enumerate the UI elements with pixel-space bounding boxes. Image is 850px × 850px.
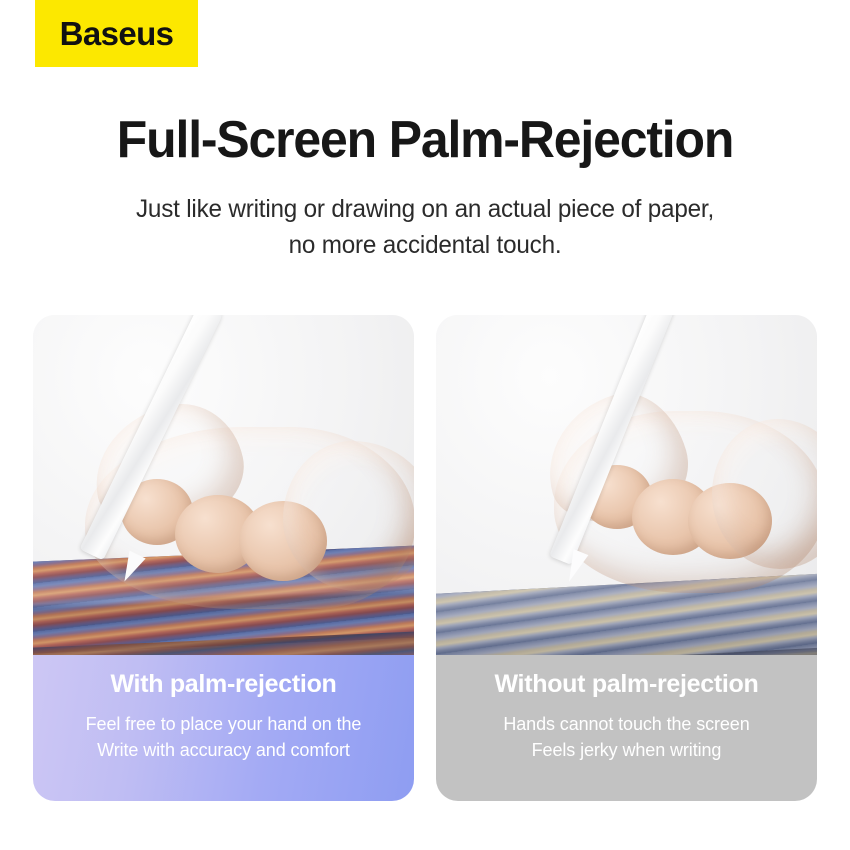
caption-sub-with: Feel free to place your hand on the Writ… [86, 712, 362, 764]
hand-back-left [283, 441, 414, 591]
card-with-palm-rejection: With palm-rejection Feel free to place y… [33, 315, 414, 801]
caption-sub-without: Hands cannot touch the screen Feels jerk… [503, 712, 749, 764]
caption-sub-with-line-2: Write with accuracy and comfort [86, 738, 362, 764]
photo-without-palm-rejection [436, 315, 817, 655]
page-subtitle: Just like writing or drawing on an actua… [13, 192, 838, 263]
comparison-cards: With palm-rejection Feel free to place y… [33, 315, 817, 801]
caption-without-palm-rejection: Without palm-rejection Hands cannot touc… [436, 655, 817, 801]
caption-sub-without-line-2: Feels jerky when writing [503, 738, 749, 764]
page-title: Full-Screen Palm-Rejection [17, 112, 833, 168]
hand-left [33, 315, 414, 655]
caption-with-palm-rejection: With palm-rejection Feel free to place y… [33, 655, 414, 801]
caption-sub-with-line-1: Feel free to place your hand on the [86, 712, 362, 738]
card-without-palm-rejection: Without palm-rejection Hands cannot touc… [436, 315, 817, 801]
page-subtitle-line-2: no more accidental touch. [13, 228, 838, 264]
caption-title-without: Without palm-rejection [494, 669, 758, 699]
product-feature-page: Baseus Full-Screen Palm-Rejection Just l… [0, 0, 850, 850]
photo-with-palm-rejection [33, 315, 414, 655]
page-subtitle-line-1: Just like writing or drawing on an actua… [13, 192, 838, 228]
brand-logo-text: Baseus [60, 15, 174, 53]
caption-title-with: With palm-rejection [110, 669, 336, 699]
brand-logo: Baseus [35, 0, 198, 67]
caption-sub-without-line-1: Hands cannot touch the screen [503, 712, 749, 738]
